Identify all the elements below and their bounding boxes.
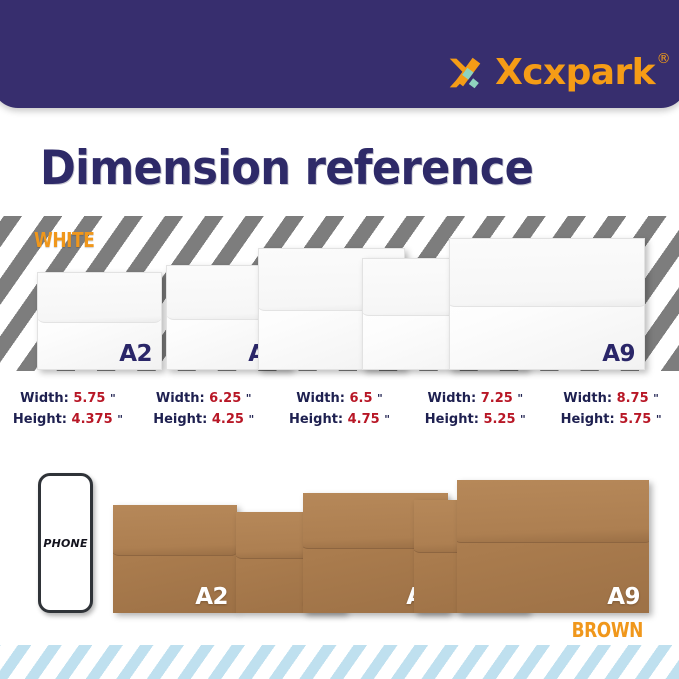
blue-stripe-band (0, 645, 679, 679)
envelope-brown-a2: A2 (113, 505, 237, 613)
envelope-flap (457, 480, 649, 543)
brown-envelope-row: A2A4A6A7A9 (0, 0, 679, 679)
envelope-flap (113, 505, 237, 556)
infographic-page: Xcxpark® Dimension reference WHITE A2A4A… (0, 0, 679, 679)
envelope-size-label: A2 (195, 584, 228, 610)
envelope-size-label: A9 (607, 584, 640, 610)
brown-section-label: BROWN (572, 618, 643, 642)
envelope-brown-a9: A9 (457, 480, 649, 613)
